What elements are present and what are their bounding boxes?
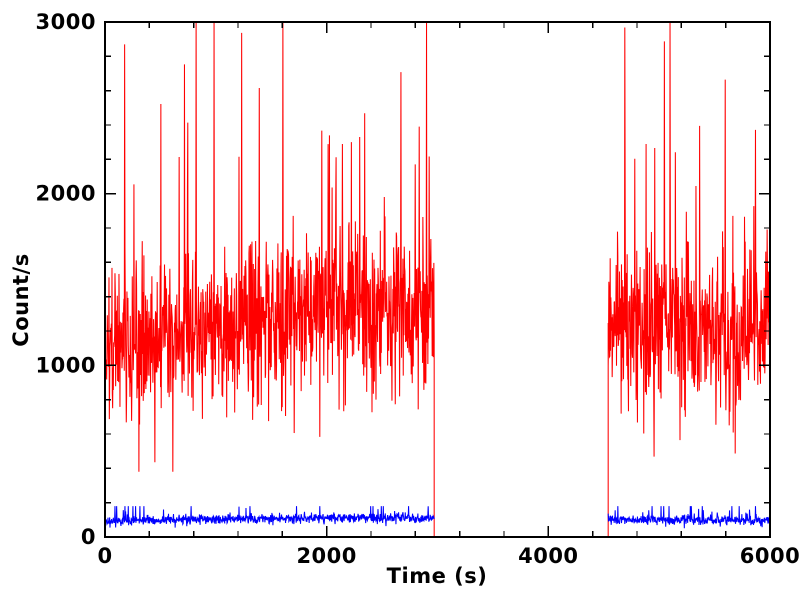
y-axis-tick-labels: 0100020003000 xyxy=(36,10,96,549)
series-soft-band-count-rate xyxy=(105,506,770,528)
y-tick-label: 2000 xyxy=(36,182,96,206)
y-tick-label: 3000 xyxy=(36,10,96,34)
y-tick-label: 0 xyxy=(81,525,96,549)
y-tick-label: 1000 xyxy=(36,353,96,377)
x-tick-label: 4000 xyxy=(518,544,578,568)
series-hard-band-count-rate xyxy=(105,22,770,537)
light-curve-figure: 0200040006000 0100020003000 Time (s) Cou… xyxy=(0,0,800,600)
data-layer xyxy=(105,22,770,537)
plot-canvas: 0200040006000 0100020003000 Time (s) Cou… xyxy=(0,0,800,600)
y-axis-title: Count/s xyxy=(9,253,33,346)
x-axis-title: Time (s) xyxy=(387,564,488,588)
x-tick-label: 0 xyxy=(97,544,112,568)
x-tick-label: 6000 xyxy=(740,544,800,568)
x-tick-label: 2000 xyxy=(296,544,356,568)
